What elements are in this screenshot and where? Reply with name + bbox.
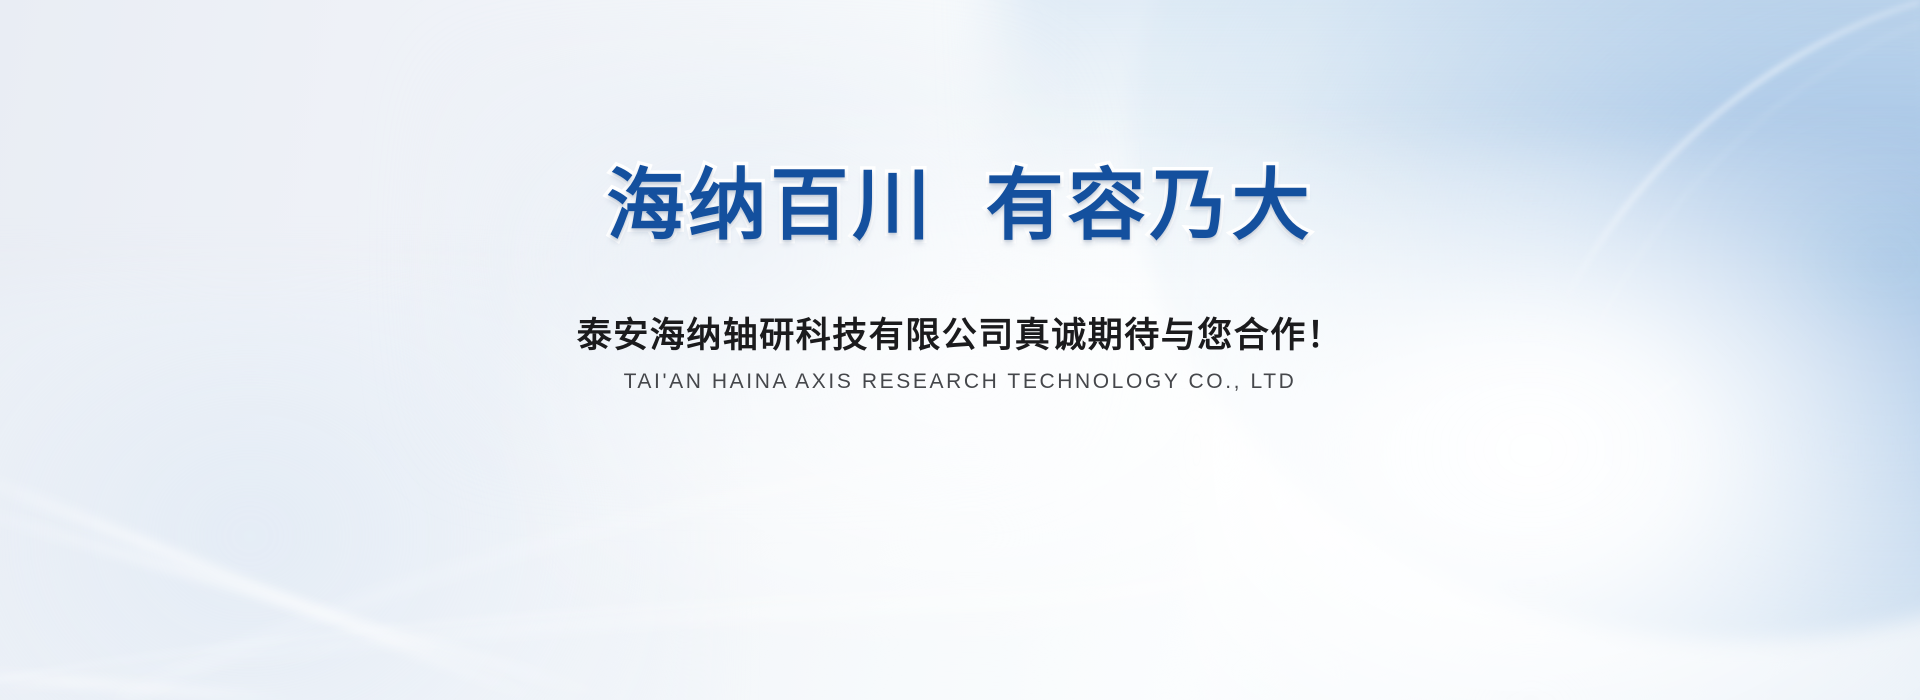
hero-banner: 海纳百川 有容乃大 泰安海纳轴研科技有限公司真诚期待与您合作！ TAI'AN H… (0, 0, 1920, 700)
banner-content: 海纳百川 有容乃大 泰安海纳轴研科技有限公司真诚期待与您合作！ TAI'AN H… (0, 0, 1920, 700)
banner-headline: 海纳百川 有容乃大 (606, 166, 1313, 244)
banner-subtitle-chinese: 泰安海纳轴研科技有限公司真诚期待与您合作！ (577, 318, 1344, 353)
banner-subtitle-english: TAI'AN HAINA AXIS RESEARCH TECHNOLOGY CO… (624, 371, 1297, 392)
